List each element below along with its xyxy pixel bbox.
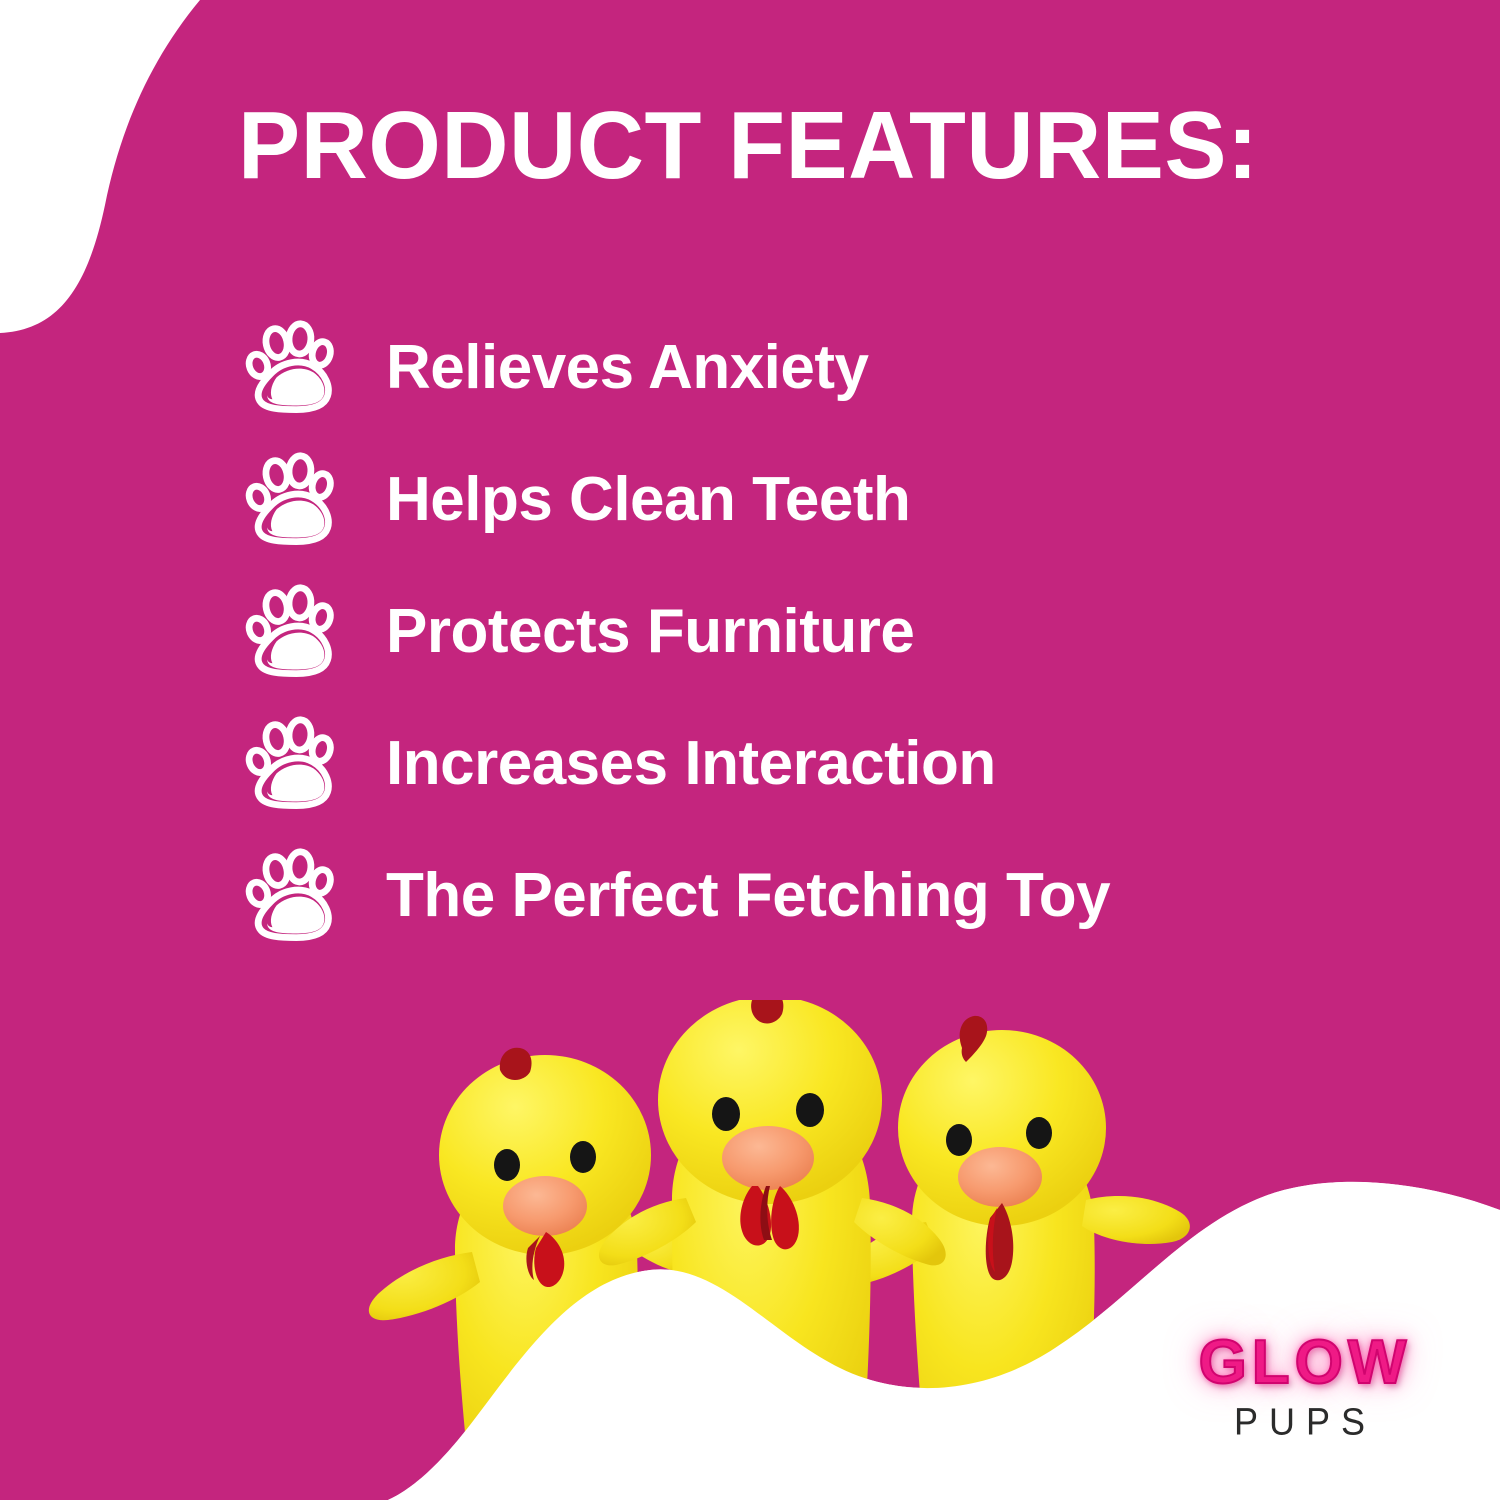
page-title: PRODUCT FEATURES:	[238, 98, 1305, 194]
feature-row: Protects Furniture	[236, 576, 1416, 688]
feature-label: The Perfect Fetching Toy	[386, 865, 1110, 927]
paw-print-icon	[236, 580, 340, 684]
paw-print-icon	[236, 316, 340, 420]
infographic-canvas: PRODUCT FEATURES: Relieves Anxiety	[0, 0, 1500, 1500]
feature-label: Relieves Anxiety	[386, 337, 869, 399]
paw-print-icon	[236, 448, 340, 552]
paw-print-icon	[236, 844, 340, 948]
brand-logo: GLOW PUPS	[1160, 1332, 1450, 1440]
logo-sub-text: PUPS	[1160, 1403, 1450, 1441]
feature-label: Protects Furniture	[386, 601, 914, 663]
logo-brand-text: GLOW	[1160, 1332, 1450, 1394]
paw-print-icon	[236, 712, 340, 816]
feature-row: The Perfect Fetching Toy	[236, 840, 1416, 952]
features-list: Relieves Anxiety Helps Clean Teeth	[236, 312, 1416, 972]
feature-label: Increases Interaction	[386, 733, 996, 795]
feature-label: Helps Clean Teeth	[386, 469, 910, 531]
feature-row: Relieves Anxiety	[236, 312, 1416, 424]
feature-row: Increases Interaction	[236, 708, 1416, 820]
feature-row: Helps Clean Teeth	[236, 444, 1416, 556]
